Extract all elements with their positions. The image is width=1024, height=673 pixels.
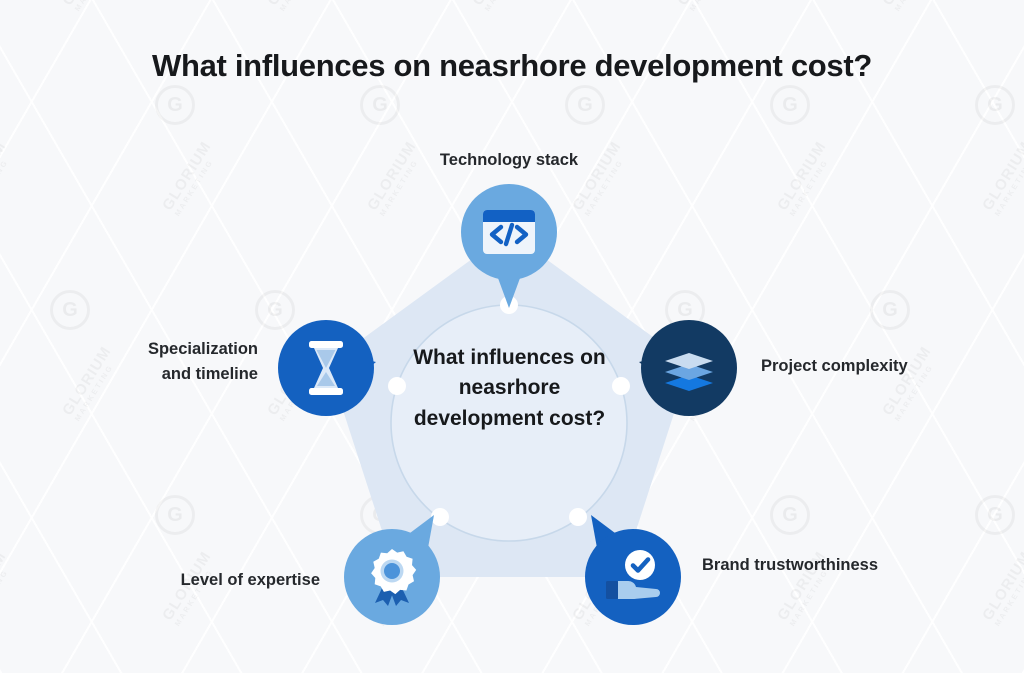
label-project-complexity: Project complexity xyxy=(761,354,1021,379)
stacked-layers-icon xyxy=(641,320,737,416)
node-technology-stack[interactable] xyxy=(461,184,557,280)
hub-center-label: What influences on neasrhore development… xyxy=(407,343,612,434)
code-window-icon xyxy=(461,184,557,280)
node-brand-trustworthiness[interactable] xyxy=(585,529,681,625)
label-line-1: Specialization xyxy=(52,337,258,362)
label-level-of-expertise: Level of expertise xyxy=(80,568,320,593)
award-badge-icon xyxy=(344,529,440,625)
node-level-of-expertise[interactable] xyxy=(344,529,440,625)
label-brand-trustworthiness: Brand trustworthiness xyxy=(702,553,922,578)
node-specialization-and-timeline[interactable] xyxy=(278,320,374,416)
infographic-canvas: GLORIUMMARKETINGGGLORIUMMARKETINGGGLORIU… xyxy=(0,0,1024,673)
hourglass-icon xyxy=(278,320,374,416)
hand-check-icon xyxy=(585,529,681,625)
label-line-2: and timeline xyxy=(52,362,258,387)
node-project-complexity[interactable] xyxy=(641,320,737,416)
label-specialization-and-timeline: Specialization and timeline xyxy=(52,337,258,387)
label-technology-stack: Technology stack xyxy=(379,148,639,173)
